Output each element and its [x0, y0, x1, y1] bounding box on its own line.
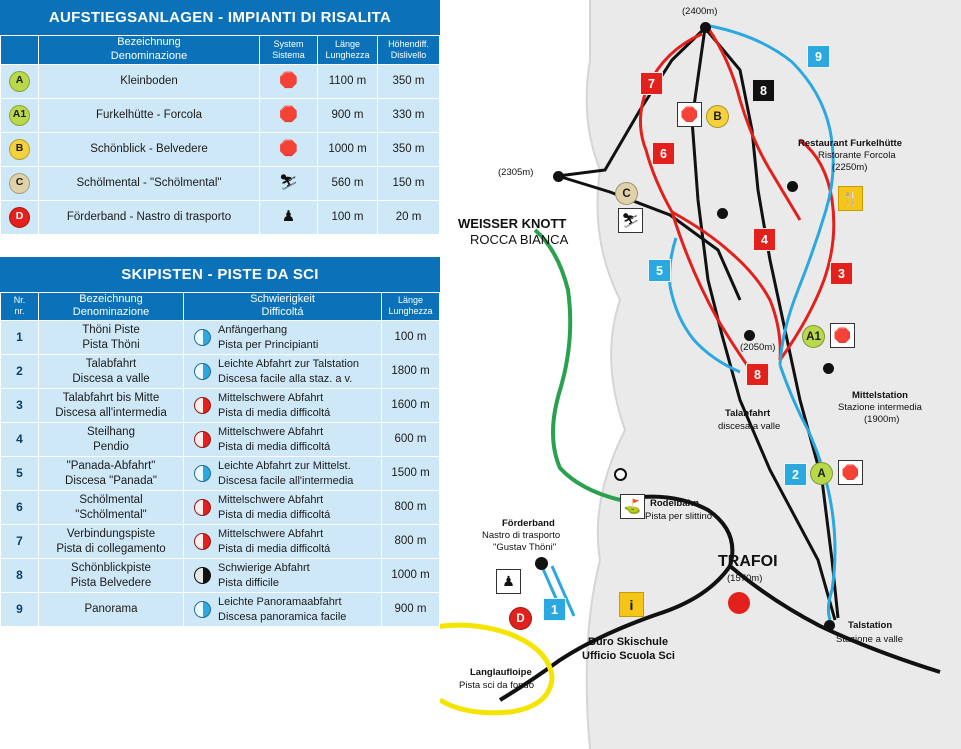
map-slope-badge-8[interactable]: 8 [752, 79, 775, 102]
map-lift-badge-c[interactable]: C [615, 182, 638, 205]
label-trafoi: TRAFOI [718, 552, 778, 572]
lift-name: Kleinboden [39, 64, 260, 98]
difficulty-dot-icon [194, 397, 211, 414]
table-row: D Förderband - Nastro di trasporto ♟ 100… [1, 200, 440, 234]
label-pista-sci-da-fondo: Pista sci da fondo [459, 680, 534, 692]
lift-code-cell: D [1, 200, 39, 234]
tbar-icon: ⛷ [618, 208, 643, 233]
difficulty-dot-icon [194, 567, 211, 584]
slope-length: 600 m [382, 423, 440, 457]
lift-length: 900 m [318, 98, 378, 132]
lifts-table-header-row: Bezeichnung Denominazione System Sistema… [1, 36, 440, 65]
station-dot-2050 [744, 330, 755, 341]
chairlift-icon: 🛑 [260, 64, 318, 98]
slope-nr: 2 [1, 355, 39, 389]
legend-panel: AUFSTIEGSANLAGEN - IMPIANTI DI RISALITA … [0, 0, 440, 749]
label-nastro-di-trasporto: Nastro di trasporto [482, 530, 560, 542]
label-talabfahrt: Talabfahrt [725, 408, 770, 420]
slope-nr: 7 [1, 525, 39, 559]
slope-name: Talabfahrt bis Mitte Discesa all'interme… [39, 389, 184, 423]
label-pista-per-slittino: Pista per slittino [645, 511, 712, 523]
slope-length: 800 m [382, 525, 440, 559]
slope-name: "Panada-Abfahrt" Discesa "Panada" [39, 457, 184, 491]
slope-length: 1600 m [382, 389, 440, 423]
station-dot-mid-ridge [717, 208, 728, 219]
slope-nr: 8 [1, 559, 39, 593]
slope-nr: 5 [1, 457, 39, 491]
label-stazione-intermedia: Stazione intermedia [838, 402, 922, 414]
table-row: A1 Furkelhütte - Forcola 🛑 900 m 330 m [1, 98, 440, 132]
station-dot-summit [700, 22, 711, 33]
lift-code-cell: A [1, 64, 39, 98]
info-icon: i [619, 592, 644, 617]
slope-nr: 9 [1, 593, 39, 627]
slope-difficulty: Leichte Abfahrt zur Talstation Discesa f… [184, 355, 382, 389]
label-furkelhuette-altitude: (2250m) [832, 162, 867, 174]
table-row: C Schölmental - "Schölmental" ⛷ 560 m 15… [1, 166, 440, 200]
table-row: 4 Steilhang Pendio Mittelschwere Abfahrt… [1, 423, 440, 457]
lifts-header-system: System Sistema [260, 36, 318, 65]
lift-drop: 150 m [378, 166, 440, 200]
table-row: 2 Talabfahrt Discesa a valle Leichte Abf… [1, 355, 440, 389]
label-rocca-bianca: ROCCA BIANCA [470, 232, 568, 248]
slopes-header-name: Bezeichnung Denominazione [39, 292, 184, 321]
map-slope-badge-6[interactable]: 6 [652, 142, 675, 165]
label-restaurant-furkelhuette: Restaurant Furkelhütte [798, 138, 902, 150]
slope-difficulty: Leichte Abfahrt zur Mittelst. Discesa fa… [184, 457, 382, 491]
table-row: A Kleinboden 🛑 1100 m 350 m [1, 64, 440, 98]
slope-difficulty: Schwierige Abfahrt Pista difficile [184, 559, 382, 593]
station-dot-mittelstation [823, 363, 834, 374]
label-talstation: Talstation [848, 620, 892, 632]
slopes-panel-title: SKIPISTEN - PISTE DA SCI [0, 257, 440, 292]
lift-code-cell: C [1, 166, 39, 200]
sled-icon: ⛳ [620, 494, 645, 519]
slopes-table: Nr. nr. Bezeichnung Denominazione Schwie… [0, 292, 440, 628]
slope-nr: 4 [1, 423, 39, 457]
lift-length: 1100 m [318, 64, 378, 98]
lifts-header-drop: Höhendiff. Dislivello [378, 36, 440, 65]
slope-name: Schölmental "Schölmental" [39, 491, 184, 525]
station-dot-furkelhuette [787, 181, 798, 192]
slope-length: 100 m [382, 321, 440, 355]
label-weisser-knott: WEISSER KNOTT [458, 216, 566, 232]
conveyor-icon: ♟ [496, 569, 521, 594]
label-ufficio-scuola-sci: Ufficio Scuola Sci [582, 650, 675, 664]
slope-length: 1500 m [382, 457, 440, 491]
difficulty-dot-icon [194, 499, 211, 516]
lift-badge: C [9, 173, 30, 194]
lifts-header-name-it: Denominazione [39, 50, 259, 64]
lift-drop: 330 m [378, 98, 440, 132]
lifts-panel-title: AUFSTIEGSANLAGEN - IMPIANTI DI RISALITA [0, 0, 440, 35]
lift-badge: B [9, 139, 30, 160]
map-slope-badge-1[interactable]: 1 [543, 598, 566, 621]
slope-name: Thöni Piste Pista Thöni [39, 321, 184, 355]
slope-name: Talabfahrt Discesa a valle [39, 355, 184, 389]
difficulty-dot-icon [194, 465, 211, 482]
label-ristorante-forcola: Ristorante Forcola [818, 150, 896, 162]
label-discesa-a-valle: discesa a valle [718, 421, 780, 433]
lifts-header-name-de: Bezeichnung [39, 36, 259, 50]
slope-difficulty: Anfängerhang Pista per Principianti [184, 321, 382, 355]
label-stazione-a-valle: Stazione a valle [836, 634, 903, 646]
table-row: B Schönblick - Belvedere 🛑 1000 m 350 m [1, 132, 440, 166]
map-lift-badge-d[interactable]: D [509, 607, 532, 630]
slope-difficulty: Mittelschwere Abfahrt Pista di media dif… [184, 525, 382, 559]
slope-nr: 1 [1, 321, 39, 355]
label-foerderband: Förderband [502, 518, 555, 530]
station-dot-weisser-knott [553, 171, 564, 182]
lift-code-cell: B [1, 132, 39, 166]
label-mittelstation-altitude: (1900m) [864, 414, 899, 426]
label-buero-skischule: Büro Skischule [588, 636, 668, 650]
lift-drop: 350 m [378, 132, 440, 166]
conveyor-icon: ♟ [260, 200, 318, 234]
slope-length: 800 m [382, 491, 440, 525]
slope-name: Panorama [39, 593, 184, 627]
altitude-label: (2400m) [682, 6, 717, 18]
map-slope-badge-4[interactable]: 4 [753, 228, 776, 251]
lift-name: Schönblick - Belvedere [39, 132, 260, 166]
slope-difficulty: Leichte Panoramaabfahrt Discesa panorami… [184, 593, 382, 627]
slope-difficulty: Mittelschwere Abfahrt Pista di media dif… [184, 389, 382, 423]
slope-difficulty: Mittelschwere Abfahrt Pista di media dif… [184, 491, 382, 525]
slope-length: 1000 m [382, 559, 440, 593]
map-lift-badge-a1[interactable]: A1 [802, 325, 825, 348]
label-mittelstation: Mittelstation [852, 390, 908, 402]
difficulty-dot-icon [194, 363, 211, 380]
map-slope-badge-3-upper[interactable]: 3 [830, 262, 853, 285]
map-slope-badge-7[interactable]: 7 [640, 72, 663, 95]
slope-name: Steilhang Pendio [39, 423, 184, 457]
lifts-table: Bezeichnung Denominazione System Sistema… [0, 35, 440, 235]
station-dot-foerderband [535, 557, 548, 570]
table-row: 1 Thöni Piste Pista Thöni Anfängerhang P… [1, 321, 440, 355]
label-rodelbahn: Rodelbahn [650, 498, 699, 510]
lift-name: Furkelhütte - Forcola [39, 98, 260, 132]
chairlift-icon: 🛑 [677, 102, 702, 127]
slopes-header-length: Länge Lunghezza [382, 292, 440, 321]
difficulty-dot-icon [194, 431, 211, 448]
town-dot-trafoi [728, 592, 750, 614]
chairlift-icon: 🛑 [830, 323, 855, 348]
chairlift-icon: 🛑 [260, 132, 318, 166]
lifts-header-length: Länge Lunghezza [318, 36, 378, 65]
lift-code-cell: A1 [1, 98, 39, 132]
lift-drop: 350 m [378, 64, 440, 98]
lift-name: Schölmental - "Schölmental" [39, 166, 260, 200]
lift-badge: A [9, 71, 30, 92]
map-slope-badge-5[interactable]: 5 [648, 259, 671, 282]
altitude-label: (2305m) [498, 167, 533, 179]
map-slope-badge-3[interactable]: 8 [746, 363, 769, 386]
difficulty-dot-icon [194, 533, 211, 550]
slope-name: Verbindungspiste Pista di collegamento [39, 525, 184, 559]
lift-length: 100 m [318, 200, 378, 234]
lift-length: 1000 m [318, 132, 378, 166]
lift-name: Förderband - Nastro di trasporto [39, 200, 260, 234]
table-row: 5 "Panada-Abfahrt" Discesa "Panada" Leic… [1, 457, 440, 491]
altitude-label: (2050m) [740, 342, 775, 354]
label-gustav-thoeni: "Gustav Thöni" [493, 542, 556, 554]
slope-name: Schönblickpiste Pista Belvedere [39, 559, 184, 593]
tbar-icon: ⛷ [260, 166, 318, 200]
lift-length: 560 m [318, 166, 378, 200]
lift-badge: A1 [9, 105, 30, 126]
map-slope-badge-9[interactable]: 9 [807, 45, 830, 68]
table-row: 6 Schölmental "Schölmental" Mittelschwer… [1, 491, 440, 525]
difficulty-dot-icon [194, 329, 211, 346]
chairlift-icon: 🛑 [260, 98, 318, 132]
label-langlaufloipe: Langlaufloipe [470, 667, 532, 679]
chairlift-icon: 🛑 [838, 460, 863, 485]
station-dot-junction [614, 468, 627, 481]
slopes-header-nr: Nr. nr. [1, 292, 39, 321]
slope-difficulty: Mittelschwere Abfahrt Pista di media dif… [184, 423, 382, 457]
map-lift-badge-b[interactable]: B [706, 105, 729, 128]
restaurant-icon: 🍴 [838, 186, 863, 211]
slopes-table-header-row: Nr. nr. Bezeichnung Denominazione Schwie… [1, 292, 440, 321]
table-row: 7 Verbindungspiste Pista di collegamento… [1, 525, 440, 559]
table-row: 3 Talabfahrt bis Mitte Discesa all'inter… [1, 389, 440, 423]
slope-nr: 3 [1, 389, 39, 423]
label-trafoi-altitude: (1570m) [727, 573, 762, 585]
station-dot-talstation [824, 620, 835, 631]
map-lift-badge-a[interactable]: A [810, 462, 833, 485]
lift-badge: D [9, 207, 30, 228]
difficulty-dot-icon [194, 601, 211, 618]
slope-length: 1800 m [382, 355, 440, 389]
slopes-header-difficulty: Schwierigkeit Difficoltá [184, 292, 382, 321]
lifts-header-name: Bezeichnung Denominazione [39, 36, 260, 65]
table-row: 8 Schönblickpiste Pista Belvedere Schwie… [1, 559, 440, 593]
piste-map[interactable]: (2400m) (2305m) (2050m) Restaurant Furke… [440, 0, 961, 749]
map-slope-badge-2[interactable]: 2 [784, 463, 807, 486]
lift-drop: 20 m [378, 200, 440, 234]
slope-nr: 6 [1, 491, 39, 525]
table-row: 9 Panorama Leichte Panoramaabfahrt Disce… [1, 593, 440, 627]
slope-length: 900 m [382, 593, 440, 627]
lifts-header-code [1, 36, 39, 65]
